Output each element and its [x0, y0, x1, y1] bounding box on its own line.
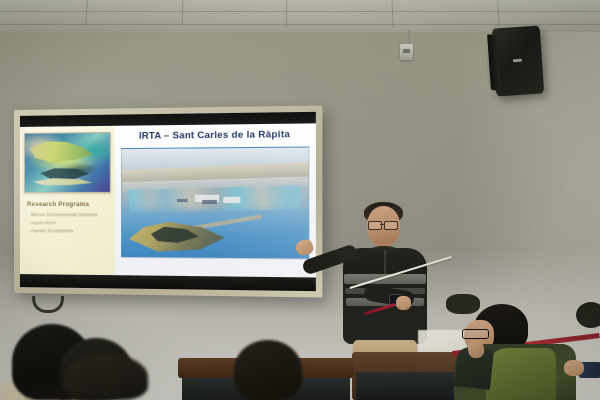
- foreground-audience: [0, 318, 210, 400]
- aerial-building-dark: [177, 199, 188, 202]
- glasses-icon: [384, 221, 398, 230]
- slide-title: IRTA – Sant Carles de la Ràpita: [115, 129, 316, 141]
- slide-bullet-list: Marine Environmental Sciences Aquacultur…: [24, 212, 111, 234]
- wall-speaker-icon: [492, 25, 545, 96]
- aerial-building-dark: [202, 200, 217, 204]
- aerial-building: [223, 196, 240, 203]
- lecture-chair-seat: [356, 372, 460, 400]
- board-surface: Research Programs Marine Environmental S…: [20, 112, 316, 291]
- attendee-hand: [564, 360, 584, 376]
- slide-bullet: Marine Environmental Sciences: [31, 212, 111, 217]
- attendee-head: [234, 340, 302, 400]
- projection-board: Research Programs Marine Environmental S…: [14, 105, 322, 297]
- speaker-badge: [513, 59, 522, 63]
- attendee-head: [446, 294, 480, 314]
- attendee-right: [452, 300, 600, 400]
- presenter-right-hand: [396, 296, 411, 310]
- satellite-land: [30, 139, 93, 172]
- attendee-vest: [486, 348, 556, 400]
- slide-bullet: Aquaculture: [31, 220, 111, 225]
- glasses-bridge: [380, 224, 384, 225]
- sprinkler-nozzle: [403, 49, 410, 53]
- attendee-head: [64, 354, 148, 400]
- slide-sidebar-heading: Research Programs: [27, 201, 111, 208]
- lecture-room-photo: Research Programs Marine Environmental S…: [0, 0, 600, 400]
- slide-main: IRTA – Sant Carles de la Ràpita: [115, 123, 316, 277]
- slide-bullet: Aquatic Ecosystems: [31, 228, 111, 233]
- glasses-icon: [462, 329, 489, 339]
- projected-slide: Research Programs Marine Environmental S…: [20, 123, 316, 277]
- attendee-head: [576, 302, 600, 328]
- slide-sidebar: Research Programs Marine Environmental S…: [20, 126, 115, 275]
- satellite-image: [24, 132, 111, 193]
- sweater-zipper: [384, 250, 386, 274]
- aerial-photo: [121, 146, 310, 259]
- glasses-icon: [368, 221, 382, 230]
